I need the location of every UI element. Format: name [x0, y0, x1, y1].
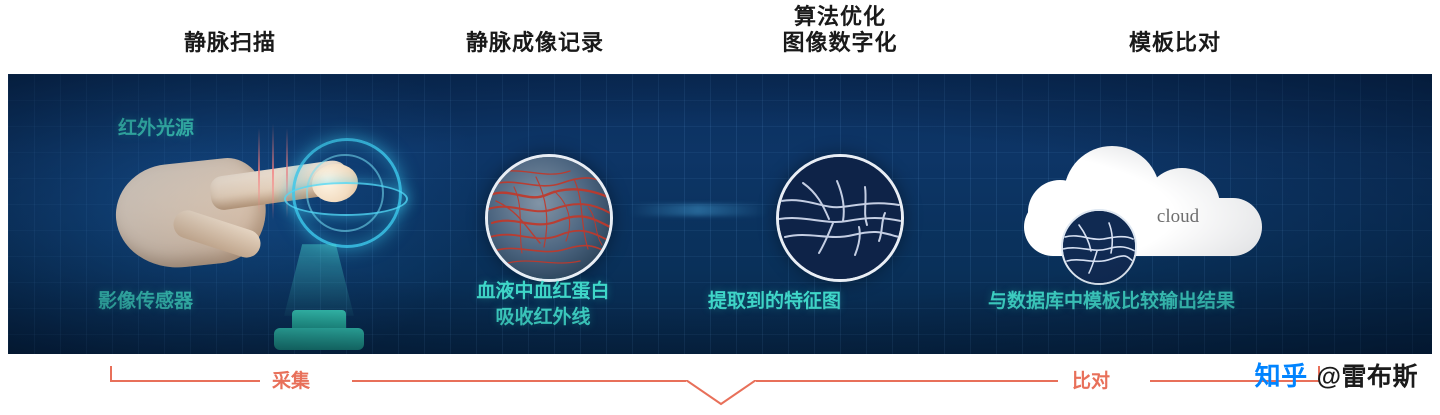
- step-title-compare: 模板比对: [1025, 30, 1325, 56]
- process-axis: 采集 比对: [0, 354, 1440, 415]
- axis-chevron-icon: [686, 380, 756, 406]
- step-title-algorithm: 算法优化 图像数字化: [705, 4, 975, 56]
- zhihu-logo: 知乎: [1255, 356, 1308, 393]
- step-title-algorithm-line2: 图像数字化: [705, 30, 975, 56]
- watermark: 知乎 @雷布斯: [1255, 356, 1418, 393]
- watermark-author: @雷布斯: [1317, 357, 1418, 393]
- step-title-imaging: 静脉成像记录: [400, 30, 670, 56]
- step-title-scan: 静脉扫描: [100, 30, 360, 56]
- axis-line-segment-mid-right: [756, 380, 1058, 382]
- step-title-algorithm-line1: 算法优化: [705, 4, 975, 30]
- axis-label-compare: 比对: [1072, 366, 1110, 393]
- axis-label-collect: 采集: [272, 366, 310, 393]
- panel-vignette: [8, 74, 1432, 354]
- axis-line-segment-left: [110, 380, 260, 382]
- diagram-panel: 红外光源 影像传感器: [8, 74, 1432, 354]
- axis-line-segment-mid-left: [352, 380, 686, 382]
- step-titles: 静脉扫描 静脉成像记录 算法优化 图像数字化 模板比对: [0, 0, 1440, 76]
